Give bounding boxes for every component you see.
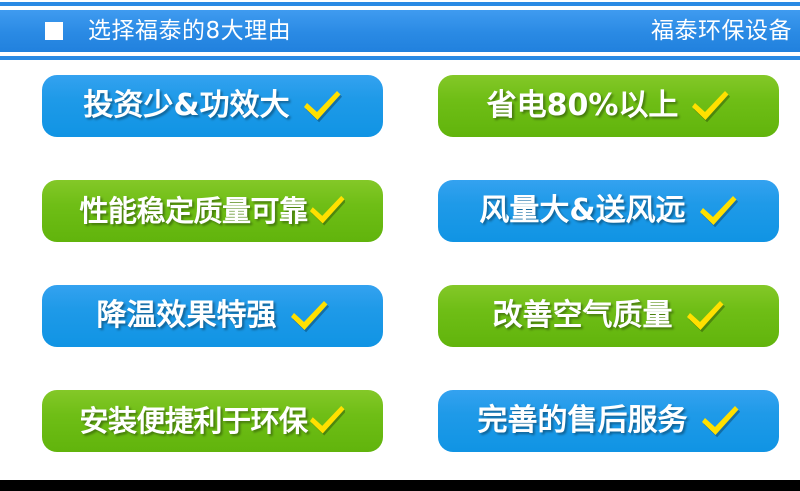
check-icon xyxy=(302,89,342,123)
reasons-grid: 投资少&功效大 省电80%以上 性能稳定质量可靠 风量大&送风远 降温效果特强 … xyxy=(0,62,800,480)
reason-pill[interactable]: 风量大&送风远 xyxy=(438,180,779,242)
check-icon xyxy=(289,299,329,333)
reason-pill[interactable]: 安装便捷利于环保 xyxy=(42,390,383,452)
reason-label: 降温效果特强 xyxy=(97,298,277,334)
reason-pill-inner: 降温效果特强 xyxy=(42,298,383,334)
reason-pill-inner: 省电80%以上 xyxy=(438,88,779,124)
reason-pill[interactable]: 性能稳定质量可靠 xyxy=(42,180,383,242)
check-icon xyxy=(308,404,346,438)
reason-label: 改善空气质量 xyxy=(493,298,673,334)
check-icon xyxy=(698,194,738,228)
footer-rule xyxy=(0,480,800,491)
reason-pill-inner: 安装便捷利于环保 xyxy=(42,403,383,439)
promo-banner: 选择福泰的8大理由 福泰环保设备 投资少&功效大 省电80%以上 性能稳定质量可… xyxy=(0,0,800,491)
brand-name: 福泰环保设备 xyxy=(651,14,792,48)
check-icon xyxy=(690,89,730,123)
reason-pill-inner: 完善的售后服务 xyxy=(438,403,779,439)
reason-label: 省电80%以上 xyxy=(487,88,679,124)
reason-pill-inner: 投资少&功效大 xyxy=(42,88,383,124)
banner-header: 选择福泰的8大理由 福泰环保设备 xyxy=(0,0,800,62)
reason-pill-inner: 风量大&送风远 xyxy=(438,193,779,229)
reason-label: 安装便捷利于环保 xyxy=(79,403,307,439)
check-icon xyxy=(700,404,740,438)
reason-pill-inner: 性能稳定质量可靠 xyxy=(42,193,383,229)
reason-pill[interactable]: 省电80%以上 xyxy=(438,75,779,137)
reason-pill[interactable]: 降温效果特强 xyxy=(42,285,383,347)
reason-label: 风量大&送风远 xyxy=(479,193,685,229)
header-rule-bottom xyxy=(0,56,800,60)
reason-pill[interactable]: 投资少&功效大 xyxy=(42,75,383,137)
check-icon xyxy=(685,299,725,333)
header-bar: 选择福泰的8大理由 福泰环保设备 xyxy=(0,10,800,52)
header-rule-top xyxy=(0,2,800,6)
reason-label: 投资少&功效大 xyxy=(83,88,289,124)
reason-pill[interactable]: 完善的售后服务 xyxy=(438,390,779,452)
check-icon xyxy=(308,194,346,228)
reason-label: 完善的售后服务 xyxy=(478,403,688,439)
reason-pill-inner: 改善空气质量 xyxy=(438,298,779,334)
page-title: 选择福泰的8大理由 xyxy=(88,14,291,48)
square-bullet-icon xyxy=(45,22,63,40)
reason-pill[interactable]: 改善空气质量 xyxy=(438,285,779,347)
reason-label: 性能稳定质量可靠 xyxy=(79,193,307,229)
